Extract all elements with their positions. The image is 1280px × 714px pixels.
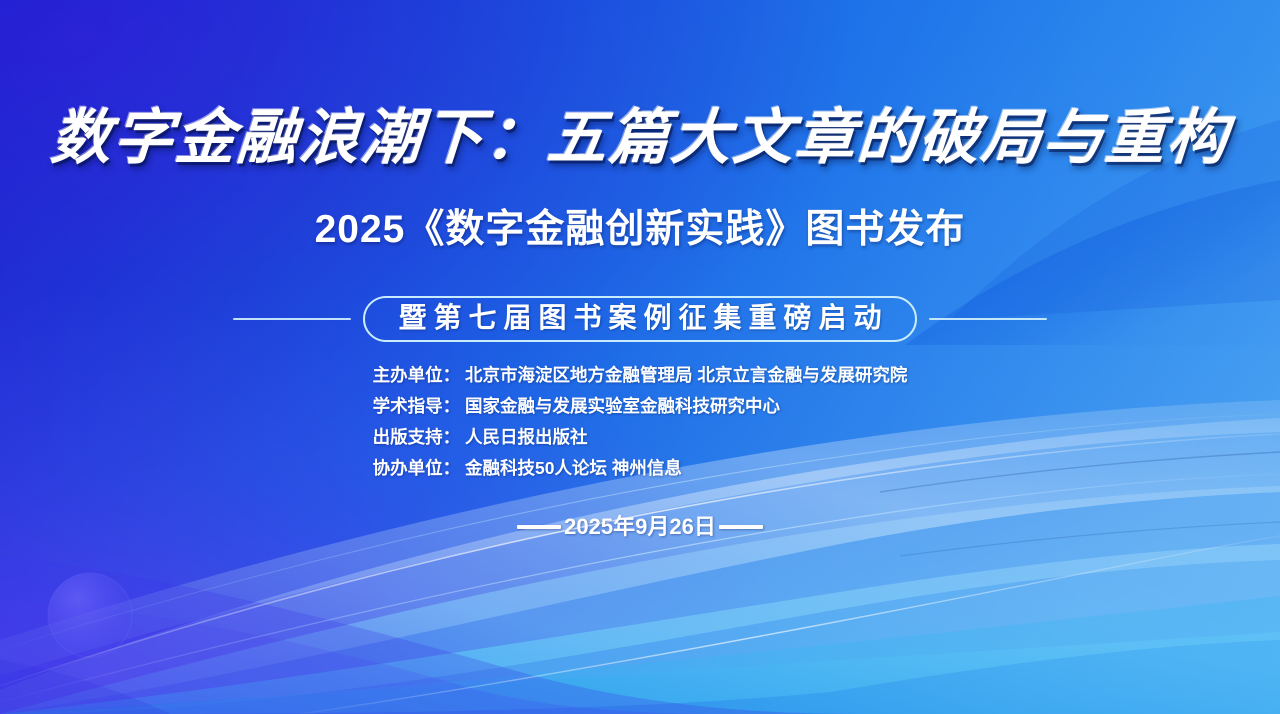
banner-content: 数字金融浪潮下：五篇大文章的破局与重构 2025《数字金融创新实践》图书发布 暨… — [0, 0, 1280, 714]
launch-headline-row: 暨第七届图书案例征集重磅启动 — [0, 296, 1280, 342]
dash-left-icon — [517, 525, 561, 529]
credits-block: 主办单位： 北京市海淀区地方金融管理局 北京立言金融与发展研究院 学术指导： 国… — [0, 360, 1280, 484]
credit-row-organizer: 主办单位： 北京市海淀区地方金融管理局 北京立言金融与发展研究院 — [373, 360, 908, 391]
page-title: 数字金融浪潮下：五篇大文章的破局与重构 — [0, 108, 1280, 168]
credit-label: 协办单位： — [373, 458, 461, 478]
event-date: 2025年9月26日 — [564, 516, 716, 538]
rule-right — [929, 318, 1047, 320]
credit-label: 学术指导： — [373, 396, 461, 416]
credit-label: 出版支持： — [373, 427, 461, 447]
credit-label: 主办单位： — [373, 365, 461, 385]
event-date-row: 2025年9月26日 — [0, 516, 1280, 538]
credit-value: 金融科技50人论坛 神州信息 — [465, 458, 682, 478]
credit-row-academic-advisor: 学术指导： 国家金融与发展实验室金融科技研究中心 — [373, 391, 908, 422]
dash-right-icon — [719, 525, 763, 529]
credit-row-co-organizer: 协办单位： 金融科技50人论坛 神州信息 — [373, 453, 908, 484]
rule-left — [233, 318, 351, 320]
credits-list: 主办单位： 北京市海淀区地方金融管理局 北京立言金融与发展研究院 学术指导： 国… — [373, 360, 908, 484]
credit-row-publishing-support: 出版支持： 人民日报出版社 — [373, 422, 908, 453]
launch-headline-pill: 暨第七届图书案例征集重磅启动 — [363, 296, 916, 342]
credit-value: 国家金融与发展实验室金融科技研究中心 — [465, 396, 780, 416]
credit-value: 人民日报出版社 — [465, 427, 588, 447]
banner-subtitle: 2025《数字金融创新实践》图书发布 — [0, 210, 1280, 249]
event-banner: 数字金融浪潮下：五篇大文章的破局与重构 2025《数字金融创新实践》图书发布 暨… — [0, 0, 1280, 714]
credit-value: 北京市海淀区地方金融管理局 北京立言金融与发展研究院 — [465, 365, 907, 385]
